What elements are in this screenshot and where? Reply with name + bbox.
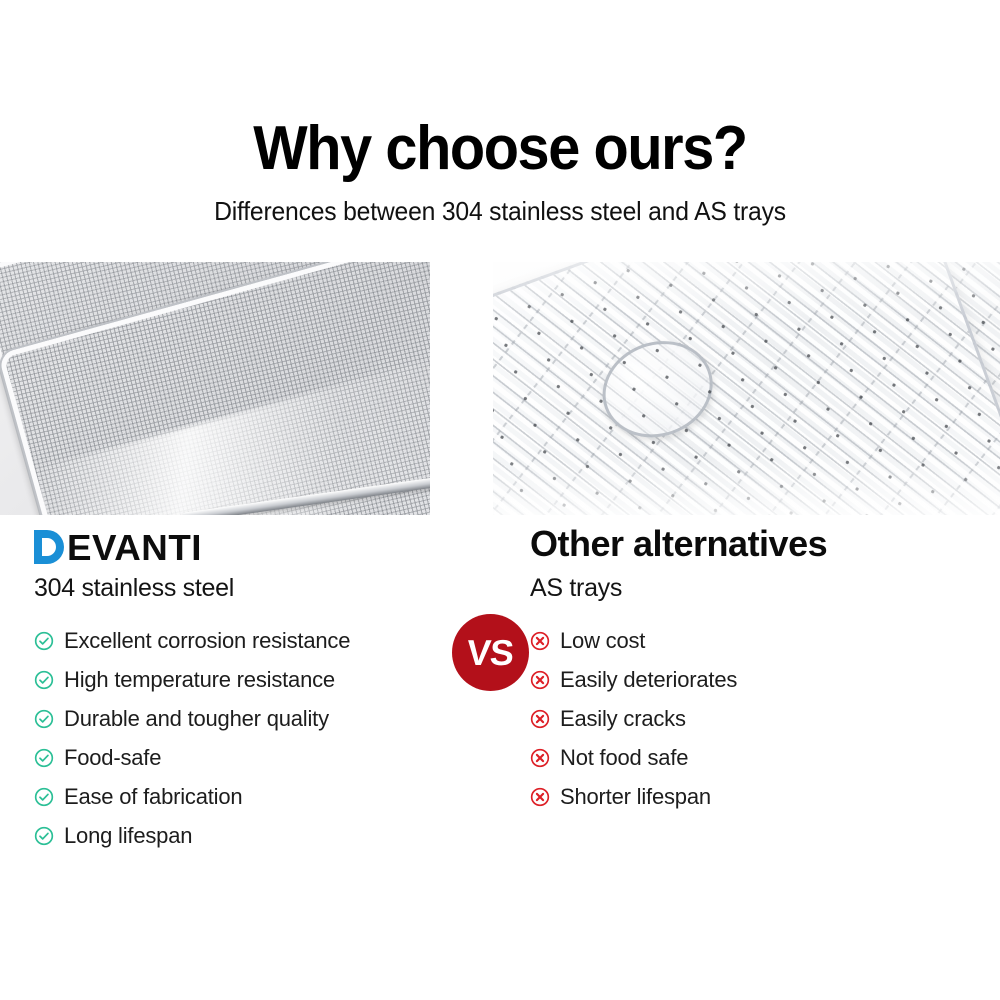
column-devanti: EVANTI 304 stainless steel Excellent cor… — [34, 524, 474, 855]
list-item: Shorter lifespan — [530, 777, 970, 816]
check-circle-icon — [34, 748, 54, 768]
vs-badge-label: VS — [466, 632, 515, 674]
devanti-benefits-list: Excellent corrosion resistance High temp… — [34, 621, 474, 855]
devanti-logo: EVANTI — [34, 524, 474, 564]
header: Why choose ours? Differences between 304… — [0, 0, 1000, 227]
list-item-label: Long lifespan — [64, 823, 192, 849]
list-item-label: Low cost — [560, 628, 645, 654]
as-plastic-tray-photo — [493, 262, 1000, 515]
cross-circle-icon — [530, 709, 550, 729]
page-subtitle: Differences between 304 stainless steel … — [25, 196, 975, 227]
alternatives-drawbacks-list: Low cost Easily deteriorates Easily crac… — [530, 621, 970, 816]
stainless-steel-tray-photo — [0, 262, 430, 515]
vs-badge: VS — [452, 614, 529, 691]
page-title: Why choose ours? — [35, 118, 965, 180]
devanti-logo-d-mark — [34, 530, 64, 564]
list-item-label: Not food safe — [560, 745, 688, 771]
devanti-subtitle: 304 stainless steel — [34, 574, 474, 603]
list-item: Durable and tougher quality — [34, 699, 474, 738]
cross-circle-icon — [530, 748, 550, 768]
list-item-label: Ease of fabrication — [64, 784, 242, 810]
check-circle-icon — [34, 670, 54, 690]
check-circle-icon — [34, 631, 54, 651]
cross-circle-icon — [530, 670, 550, 690]
list-item: Ease of fabrication — [34, 777, 474, 816]
photo-fade-overlay — [493, 262, 1000, 515]
list-item-label: Easily deteriorates — [560, 667, 737, 693]
list-item: Long lifespan — [34, 816, 474, 855]
list-item: Food-safe — [34, 738, 474, 777]
comparison-infographic: Why choose ours? Differences between 304… — [0, 0, 1000, 1000]
cross-circle-icon — [530, 631, 550, 651]
list-item-label: Shorter lifespan — [560, 784, 711, 810]
check-circle-icon — [34, 787, 54, 807]
list-item: Easily deteriorates — [530, 660, 970, 699]
cross-circle-icon — [530, 787, 550, 807]
devanti-logo-wordmark: EVANTI — [67, 532, 202, 564]
photo-comparison-band: VS — [0, 262, 1000, 515]
check-circle-icon — [34, 709, 54, 729]
list-item-label: Easily cracks — [560, 706, 686, 732]
list-item-label: Food-safe — [64, 745, 161, 771]
list-item: Not food safe — [530, 738, 970, 777]
list-item-label: High temperature resistance — [64, 667, 335, 693]
list-item: Low cost — [530, 621, 970, 660]
comparison-columns: EVANTI 304 stainless steel Excellent cor… — [0, 524, 1000, 1000]
list-item: High temperature resistance — [34, 660, 474, 699]
alternatives-title: Other alternatives — [530, 524, 970, 564]
list-item-label: Excellent corrosion resistance — [64, 628, 350, 654]
column-alternatives: Other alternatives AS trays Low cost Eas… — [530, 524, 970, 816]
alternatives-subtitle: AS trays — [530, 574, 970, 603]
check-circle-icon — [34, 826, 54, 846]
list-item: Easily cracks — [530, 699, 970, 738]
list-item-label: Durable and tougher quality — [64, 706, 329, 732]
list-item: Excellent corrosion resistance — [34, 621, 474, 660]
